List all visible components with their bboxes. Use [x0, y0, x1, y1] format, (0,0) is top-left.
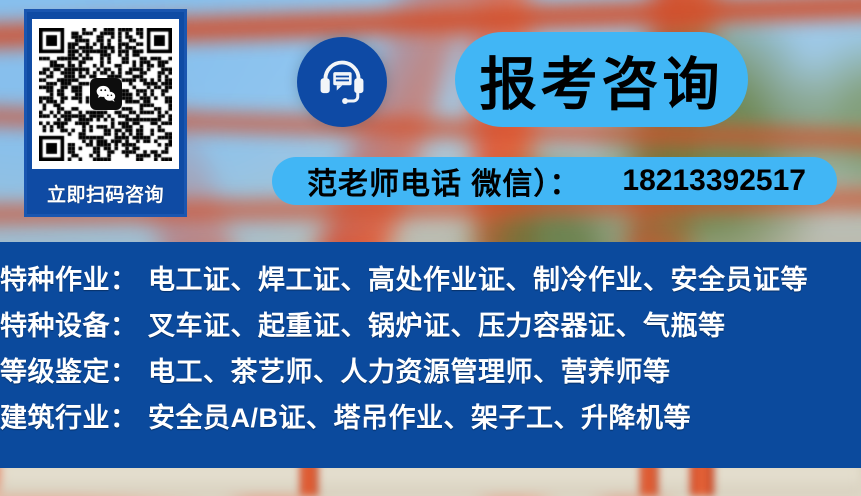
- category-row: 等级鉴定： 电工、茶艺师、人力资源管理师、营养师等: [0, 350, 861, 396]
- consult-title-text: 报考咨询: [480, 39, 724, 121]
- qr-code-image[interactable]: [32, 19, 179, 169]
- contact-phone-pill[interactable]: 范老师电话 微信）： 18213392517: [272, 157, 837, 205]
- category-row: 特种设备： 叉车证、起重证、锅炉证、压力容器证、气瓶等: [0, 304, 861, 350]
- promo-poster: 立即扫码咨询 报考咨询 范老师电话 微信）： 18213392517: [0, 0, 861, 496]
- contact-phone-number[interactable]: 18213392517: [622, 164, 806, 198]
- certificate-categories-panel: 特种作业： 电工证、焊工证、高处作业证、制冷作业、安全员证等 特种设备： 叉车证…: [0, 242, 861, 468]
- category-label: 建筑行业：: [0, 396, 148, 435]
- category-items: 叉车证、起重证、锅炉证、压力容器证、气瓶等: [148, 304, 726, 343]
- category-row: 特种作业： 电工证、焊工证、高处作业证、制冷作业、安全员证等: [0, 258, 861, 304]
- headset-support-icon: [314, 52, 370, 113]
- consult-title-pill[interactable]: 报考咨询: [455, 32, 748, 127]
- support-headset-badge[interactable]: [297, 37, 387, 127]
- category-label: 特种设备：: [0, 304, 148, 343]
- category-items: 安全员A/B证、塔吊作业、架子工、升降机等: [148, 396, 691, 435]
- qr-code-card[interactable]: 立即扫码咨询: [24, 9, 187, 217]
- category-label: 等级鉴定：: [0, 350, 148, 389]
- contact-label: 范老师电话 微信）：: [303, 159, 580, 203]
- category-items: 电工、茶艺师、人力资源管理师、营养师等: [148, 350, 671, 389]
- category-label: 特种作业：: [0, 258, 148, 297]
- qr-card-caption: 立即扫码咨询: [47, 180, 164, 207]
- category-row: 建筑行业： 安全员A/B证、塔吊作业、架子工、升降机等: [0, 396, 861, 442]
- category-items: 电工证、焊工证、高处作业证、制冷作业、安全员证等: [148, 258, 808, 297]
- wechat-icon: [90, 78, 122, 110]
